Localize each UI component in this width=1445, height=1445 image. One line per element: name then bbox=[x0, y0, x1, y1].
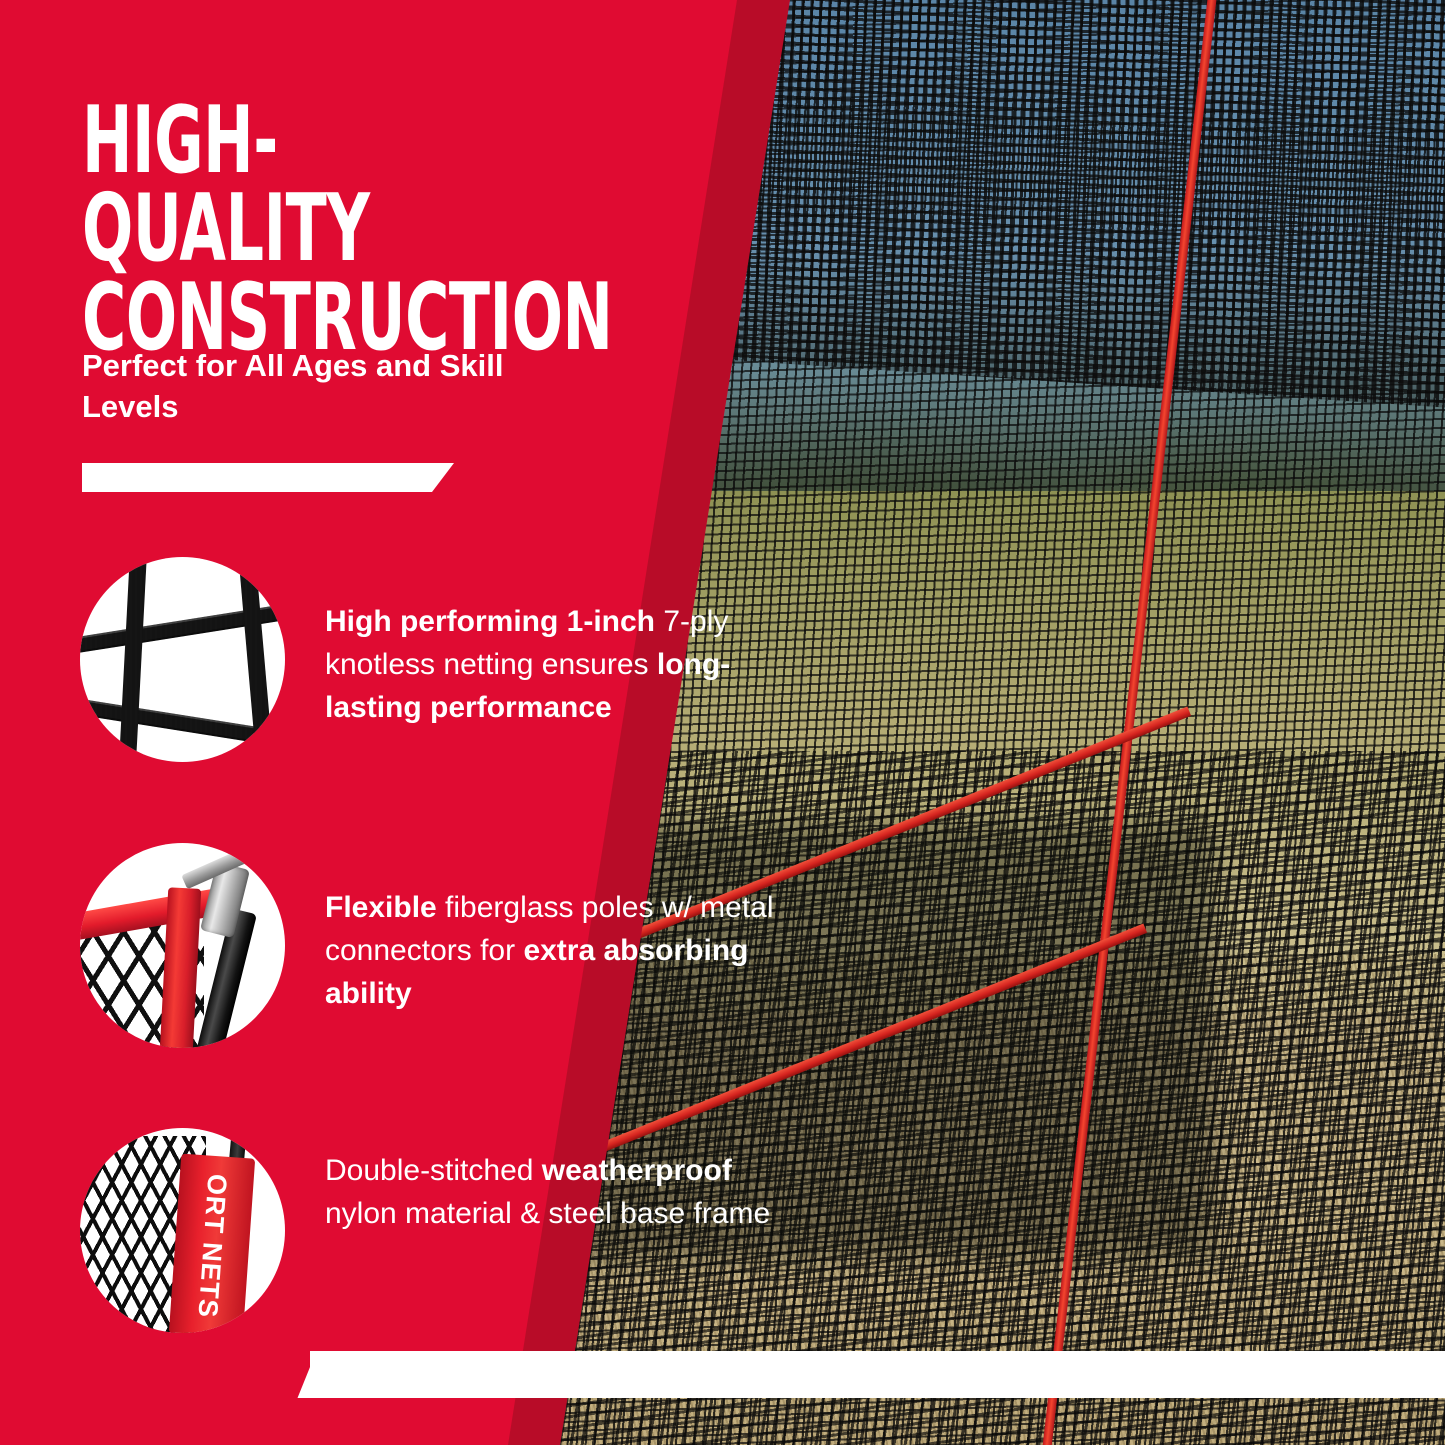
pole-connector-icon bbox=[80, 843, 285, 1048]
feature-item: Flexible fiberglass poles w/ metal conne… bbox=[80, 843, 800, 1048]
title-divider-bar bbox=[82, 463, 454, 492]
product-feature-poster: HIGH-QUALITY CONSTRUCTION Perfect for Al… bbox=[0, 0, 1445, 1445]
page-title: HIGH-QUALITY CONSTRUCTION bbox=[82, 96, 528, 361]
bottom-white-band bbox=[310, 1351, 1445, 1398]
branded-red-sleeve: ORT NETS bbox=[169, 1154, 255, 1333]
page-subtitle: Perfect for All Ages and Skill Levels bbox=[82, 345, 602, 427]
feature-text: Double-stitched weatherproof nylon mater… bbox=[325, 1150, 785, 1236]
netting-closeup-icon bbox=[80, 557, 285, 762]
feature-text: High performing 1-inch 7-ply knotless ne… bbox=[325, 601, 785, 730]
mesh-weave-texture bbox=[80, 557, 285, 762]
feature-text: Flexible fiberglass poles w/ metal conne… bbox=[325, 887, 785, 1016]
branded-sleeve-icon: ORT NETS bbox=[80, 1128, 285, 1333]
feature-item: ORT NETS Double-stitched weatherproof ny… bbox=[80, 1128, 800, 1333]
feature-item: High performing 1-inch 7-ply knotless ne… bbox=[80, 557, 800, 762]
brand-sleeve-label: ORT NETS bbox=[191, 1173, 232, 1319]
